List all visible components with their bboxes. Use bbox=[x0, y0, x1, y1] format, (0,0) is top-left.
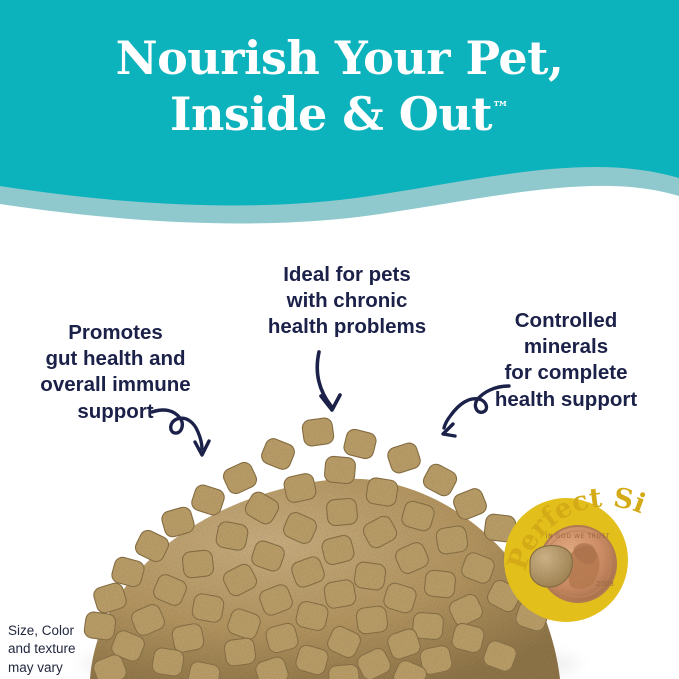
page-title: Nourish Your Pet, Inside & Out™ bbox=[0, 30, 679, 142]
curved-arrow-down-icon bbox=[305, 348, 361, 422]
header-banner: Nourish Your Pet, Inside & Out™ bbox=[0, 0, 679, 230]
disclaimer-text: Size, Color and texture may vary bbox=[8, 622, 76, 677]
callout-chronic-health: Ideal for pets with chronic health probl… bbox=[232, 262, 462, 341]
title-line-2: Inside & Out bbox=[170, 87, 492, 141]
coin-year: 2008 bbox=[596, 580, 614, 588]
perfect-size-badge: Perfect Size! IN GOD WE TRUST 2008 bbox=[496, 482, 679, 642]
title-line-1: Nourish Your Pet, bbox=[0, 30, 679, 86]
perfect-size-badge-graphic: Perfect Size! IN GOD WE TRUST 2008 bbox=[496, 482, 679, 642]
trademark-symbol: ™ bbox=[492, 99, 509, 119]
curly-arrow-down-left-icon bbox=[435, 382, 511, 438]
curly-arrow-down-right-icon bbox=[150, 400, 228, 462]
product-infographic: Nourish Your Pet, Inside & Out™ bbox=[0, 0, 679, 679]
coin-motto: IN GOD WE TRUST bbox=[546, 533, 610, 540]
title-line-2-wrap: Inside & Out™ bbox=[0, 86, 679, 142]
